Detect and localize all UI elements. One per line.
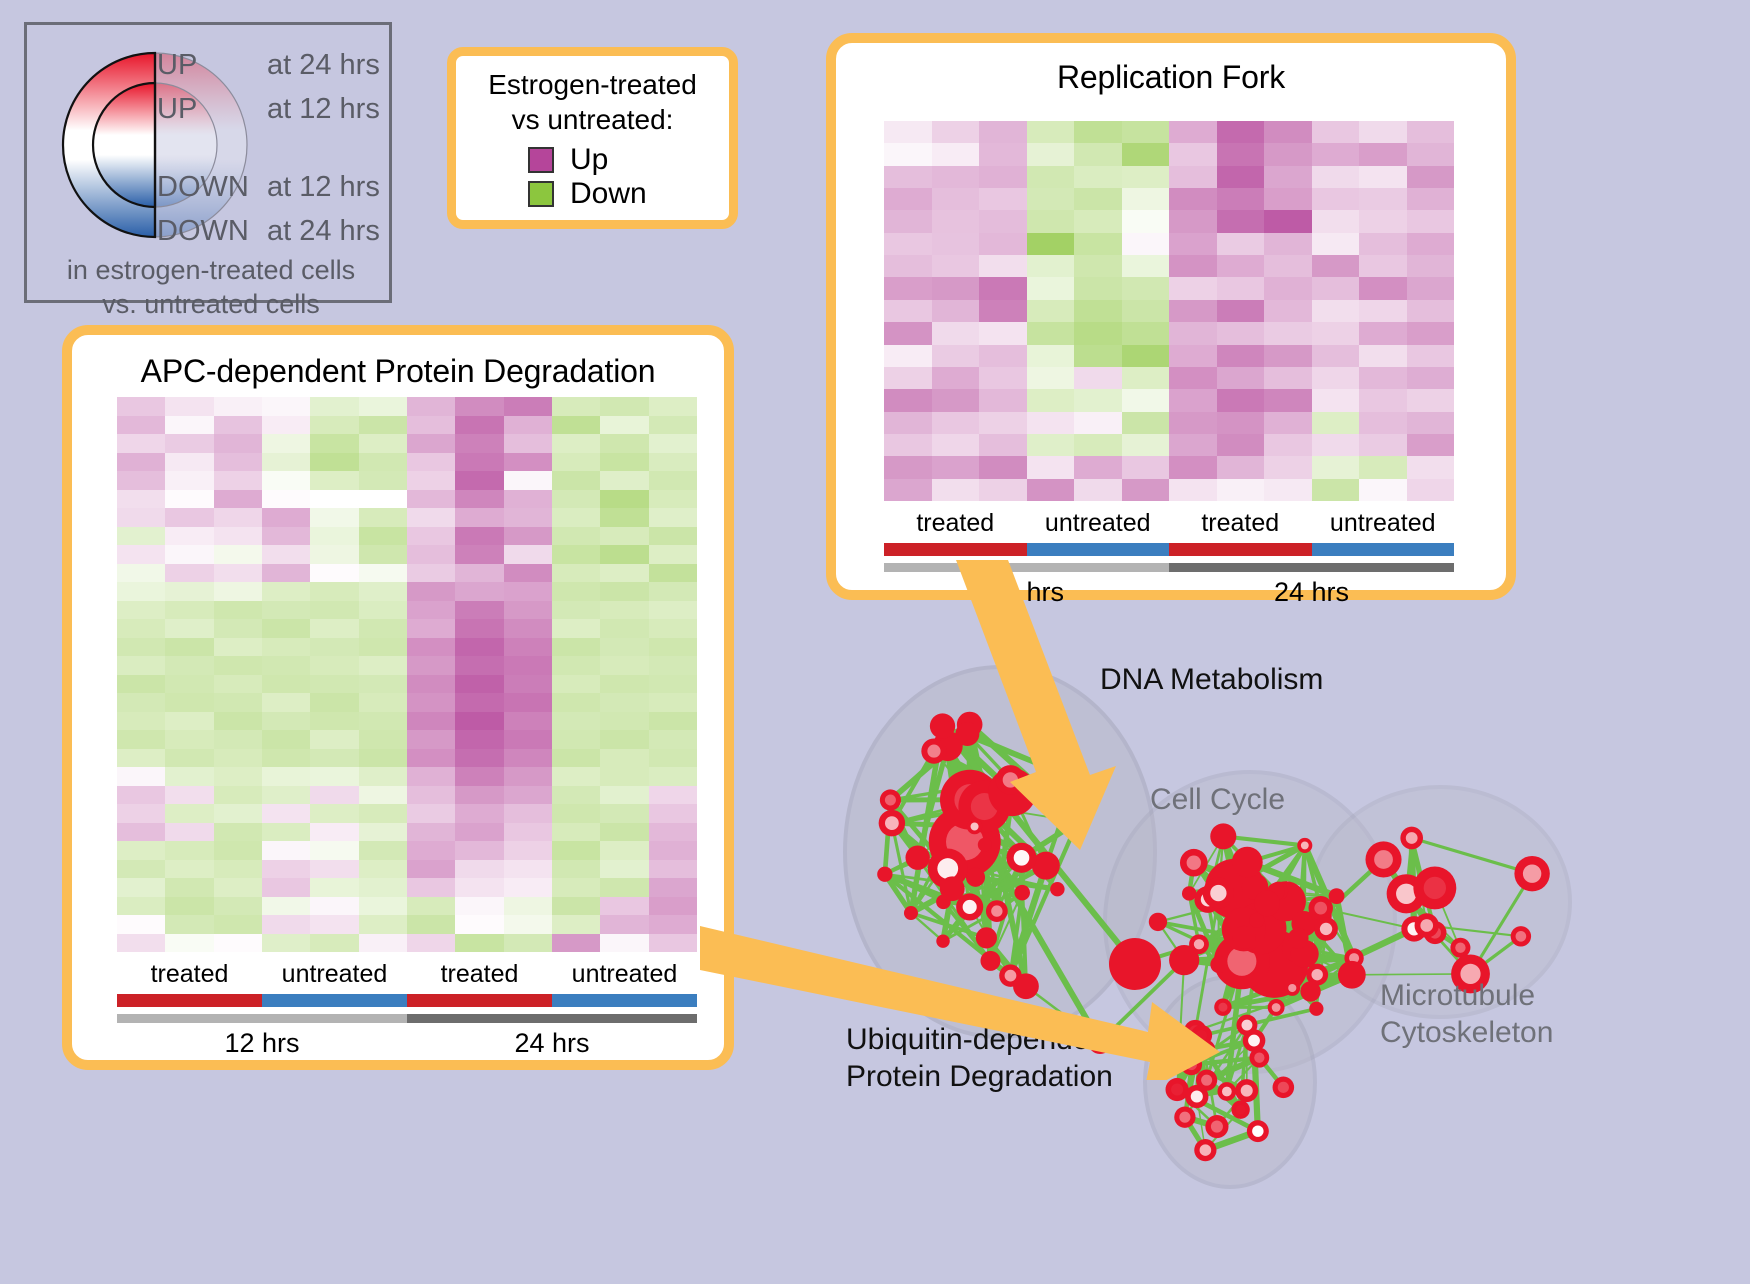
heatmap-cell xyxy=(455,619,503,638)
heatmap-cell xyxy=(1027,389,1075,411)
heatmap-cell xyxy=(407,712,455,731)
heatmap-cell xyxy=(1359,166,1407,188)
heatmap-cell xyxy=(932,277,980,299)
heatmap-cell xyxy=(214,693,262,712)
heatmap-cell xyxy=(455,490,503,509)
heatmap-cell xyxy=(600,564,648,583)
heatmap-cell xyxy=(1359,345,1407,367)
heatmap-cell xyxy=(1122,412,1170,434)
heatmap-cell xyxy=(1264,322,1312,344)
heatmap-cell xyxy=(214,878,262,897)
heatmap-cell xyxy=(552,638,600,657)
heatmap-cell xyxy=(884,188,932,210)
heatmap-cell xyxy=(504,564,552,583)
heatmap-cell xyxy=(310,675,358,694)
cluster-label-microtubule: Microtubule Cytoskeleton xyxy=(1380,978,1553,1051)
heatmap-cell xyxy=(407,823,455,842)
heatmap-cell xyxy=(600,601,648,620)
heatmap-cell xyxy=(165,860,213,879)
key-footer-line-2: vs. untreated cells xyxy=(27,287,395,321)
heatmap-cell xyxy=(165,878,213,897)
time-bar-24hrs xyxy=(407,1014,697,1023)
heatmap-cell xyxy=(455,527,503,546)
heatmap-cell xyxy=(262,527,310,546)
heatmap-cell xyxy=(1359,143,1407,165)
heatmap-cell xyxy=(649,749,697,768)
heatmap-cell xyxy=(407,730,455,749)
heatmap-cell xyxy=(310,582,358,601)
heatmap-cell xyxy=(1217,434,1265,456)
heatmap-cell xyxy=(884,479,932,501)
heatmap-cell xyxy=(214,490,262,509)
heatmap-cell xyxy=(455,508,503,527)
heatmap-cell xyxy=(1359,255,1407,277)
heatmap-cell xyxy=(552,564,600,583)
heatmap-cell xyxy=(884,143,932,165)
heatmap-cell xyxy=(1074,412,1122,434)
heatmap-cell xyxy=(884,255,932,277)
heatmap-cell xyxy=(1217,345,1265,367)
heatmap-cell xyxy=(884,210,932,232)
heatmap-cell xyxy=(552,675,600,694)
heatmap-cell xyxy=(1264,367,1312,389)
heatmap-cell xyxy=(117,823,165,842)
heatmap-cell xyxy=(1312,367,1360,389)
heatmap-cell xyxy=(1122,188,1170,210)
heatmap-cell xyxy=(504,712,552,731)
heatmap-cell xyxy=(1169,277,1217,299)
heatmap-cell xyxy=(407,471,455,490)
heatmap-cell xyxy=(979,434,1027,456)
network-node xyxy=(986,900,1008,922)
heatmap-cell xyxy=(1312,255,1360,277)
heatmap-cell xyxy=(165,823,213,842)
time-bar-12hrs xyxy=(117,1014,407,1023)
heatmap-cell xyxy=(262,860,310,879)
heatmap-cell xyxy=(117,915,165,934)
heatmap-cell xyxy=(1312,121,1360,143)
heatmap-cell xyxy=(1027,143,1075,165)
heatmap-cell xyxy=(1074,367,1122,389)
heatmap-cell xyxy=(455,675,503,694)
heatmap-cell xyxy=(117,508,165,527)
heatmap-cell xyxy=(1122,434,1170,456)
heatmap-cell xyxy=(1122,121,1170,143)
heatmap-cell xyxy=(1264,255,1312,277)
heatmap-cell xyxy=(649,934,697,953)
heatmap-cell xyxy=(407,897,455,916)
heatmap-cell xyxy=(262,453,310,472)
heatmap-cell xyxy=(504,471,552,490)
heatmap-cell xyxy=(359,545,407,564)
network-node xyxy=(1174,1107,1195,1128)
heatmap-cell xyxy=(262,508,310,527)
time-labels-apc: 12 hrs 24 hrs xyxy=(117,1028,697,1059)
heatmap-cell xyxy=(310,749,358,768)
key-row-down-12: DOWN at 12 hrs xyxy=(157,171,397,215)
network-node xyxy=(1338,961,1366,989)
heatmap-cell xyxy=(262,434,310,453)
heatmap-cell xyxy=(1264,389,1312,411)
heatmap-cell xyxy=(649,786,697,805)
heatmap-cell xyxy=(117,860,165,879)
network-node xyxy=(1297,838,1312,853)
legend-item-up: Up xyxy=(528,143,729,177)
network-node xyxy=(1514,856,1549,891)
heatmap-cell xyxy=(1217,143,1265,165)
network-node xyxy=(1235,1079,1258,1102)
heatmap-cell xyxy=(884,345,932,367)
heatmap-cell xyxy=(310,434,358,453)
network-node xyxy=(940,876,965,901)
heatmap-cell xyxy=(1217,121,1265,143)
figure-canvas: UP at 24 hrs UP at 12 hrs DOWN at 12 hrs… xyxy=(0,0,1750,1279)
heatmap-cell xyxy=(117,416,165,435)
heatmap-cell xyxy=(884,389,932,411)
heatmap-cell xyxy=(600,397,648,416)
heatmap-cell xyxy=(884,121,932,143)
network-node xyxy=(879,810,905,836)
heatmap-cell xyxy=(1169,479,1217,501)
heatmap-cell xyxy=(1169,367,1217,389)
heatmap-cell xyxy=(1169,456,1217,478)
heatmap-cell xyxy=(359,897,407,916)
heatmap-cell xyxy=(932,210,980,232)
network-node xyxy=(1231,1100,1249,1118)
heatmap-cell xyxy=(455,915,503,934)
heatmap-cell xyxy=(455,897,503,916)
heatmap-cell xyxy=(359,823,407,842)
heatmap-cell xyxy=(1074,255,1122,277)
heatmap-cell xyxy=(1027,210,1075,232)
heatmap-cell xyxy=(1407,277,1455,299)
network-node xyxy=(880,789,901,810)
heatmap-cell xyxy=(979,367,1027,389)
heatmap-cell xyxy=(1359,300,1407,322)
heatmap-cell xyxy=(1027,412,1075,434)
network-node xyxy=(1273,1077,1295,1099)
heatmap-cell xyxy=(117,841,165,860)
heatmap-cell xyxy=(407,656,455,675)
heatmap-cell xyxy=(214,786,262,805)
heatmap-cell xyxy=(117,749,165,768)
network-node xyxy=(1450,938,1470,958)
heatmap-cell xyxy=(649,471,697,490)
heatmap-cell xyxy=(504,397,552,416)
heatmap-cell xyxy=(1264,479,1312,501)
heatmap-cell xyxy=(552,490,600,509)
bar-treated-12 xyxy=(117,994,262,1007)
down-swatch-icon xyxy=(528,181,554,207)
heatmap-cell xyxy=(649,823,697,842)
heatmap-cell xyxy=(979,479,1027,501)
heatmap-cell xyxy=(1407,412,1455,434)
bar-treated-24 xyxy=(407,994,552,1007)
heatmap-cell xyxy=(1074,143,1122,165)
heatmap-cell xyxy=(1359,233,1407,255)
heatmap-cell xyxy=(359,915,407,934)
network-node xyxy=(1180,849,1208,877)
heatmap-cell xyxy=(932,345,980,367)
heatmap-cell xyxy=(1217,456,1265,478)
heatmap-cell xyxy=(214,638,262,657)
heatmap-cell xyxy=(932,188,980,210)
heatmap-cell xyxy=(600,416,648,435)
heatmap-cell xyxy=(504,675,552,694)
panel-title-replication-fork: Replication Fork xyxy=(836,59,1506,96)
heatmap-cell xyxy=(649,416,697,435)
heatmap-cell xyxy=(1312,479,1360,501)
network-node xyxy=(905,845,929,869)
heatmap-cell xyxy=(1074,389,1122,411)
heatmap-cell xyxy=(600,749,648,768)
heatmap-cell xyxy=(504,934,552,953)
heatmap-cell xyxy=(1312,233,1360,255)
heatmap-cell xyxy=(214,730,262,749)
heatmap-cell xyxy=(504,434,552,453)
heatmap-cell xyxy=(1264,345,1312,367)
heatmap-cell xyxy=(649,915,697,934)
heatmap-cell xyxy=(165,564,213,583)
heatmap-cell xyxy=(214,471,262,490)
heatmap-cell xyxy=(1122,345,1170,367)
heatmap-cell xyxy=(214,453,262,472)
heatmap-cell xyxy=(884,456,932,478)
heatmap-cell xyxy=(504,804,552,823)
legend-title-line-1: Estrogen-treated xyxy=(456,68,729,103)
heatmap-cell xyxy=(165,527,213,546)
heatmap-cell xyxy=(407,841,455,860)
heatmap-cell xyxy=(165,915,213,934)
heatmap-cell xyxy=(455,823,503,842)
heatmap-cell xyxy=(1407,233,1455,255)
heatmap-cell xyxy=(1407,300,1455,322)
heatmap-cell xyxy=(407,934,455,953)
heatmap-cell xyxy=(214,934,262,953)
heatmap-cell xyxy=(117,471,165,490)
heatmap-cell xyxy=(600,656,648,675)
heatmap-cell xyxy=(979,412,1027,434)
heatmap-cell xyxy=(1407,479,1455,501)
heatmap-cell xyxy=(1122,389,1170,411)
heatmap-cell xyxy=(600,527,648,546)
heatmap-cell xyxy=(262,804,310,823)
heatmap-cell xyxy=(1264,456,1312,478)
heatmap-cell xyxy=(165,601,213,620)
group-label: treated xyxy=(407,960,552,994)
heatmap-cell xyxy=(1359,121,1407,143)
heatmap-cell xyxy=(117,804,165,823)
heatmap-cell xyxy=(117,675,165,694)
heatmap-cell xyxy=(407,860,455,879)
heatmap-cell xyxy=(455,471,503,490)
heatmap-cell xyxy=(407,397,455,416)
heatmap-cell xyxy=(504,693,552,712)
heatmap-cell xyxy=(214,527,262,546)
heatmap-cell xyxy=(504,841,552,860)
heatmap-cell xyxy=(1217,479,1265,501)
heatmap-cell xyxy=(455,582,503,601)
heatmap-cell xyxy=(359,453,407,472)
network-node xyxy=(1203,877,1234,908)
heatmap-cell xyxy=(165,934,213,953)
heatmap-cell xyxy=(600,638,648,657)
heatmap-cell xyxy=(649,712,697,731)
heatmap-cell xyxy=(1169,322,1217,344)
heatmap-cell xyxy=(884,277,932,299)
heatmap-cell xyxy=(117,619,165,638)
heatmap-cell xyxy=(600,471,648,490)
heatmap-cell xyxy=(552,582,600,601)
heatmap-cell xyxy=(262,416,310,435)
key-time: at 24 hrs xyxy=(267,215,380,248)
network-node xyxy=(1194,1139,1216,1161)
heatmap-cell xyxy=(932,121,980,143)
group-label: untreated xyxy=(1027,509,1170,543)
heatmap-cell xyxy=(1359,188,1407,210)
group-label: treated xyxy=(884,509,1027,543)
group-label: untreated xyxy=(552,960,697,994)
heatmap-cell xyxy=(1074,456,1122,478)
heatmap-cell xyxy=(214,767,262,786)
heatmap-cell xyxy=(552,860,600,879)
heatmap-cell xyxy=(884,412,932,434)
heatmap-cell xyxy=(1312,188,1360,210)
heatmap-cell xyxy=(455,786,503,805)
heatmap-cell xyxy=(552,841,600,860)
heatmap-cell xyxy=(552,712,600,731)
heatmap-cell xyxy=(1027,434,1075,456)
heatmap-cell xyxy=(310,508,358,527)
heatmap-cell xyxy=(214,508,262,527)
heatmap-cell xyxy=(1264,277,1312,299)
heatmap-cell xyxy=(1407,210,1455,232)
heatmap-cell xyxy=(1359,434,1407,456)
heatmap-cell xyxy=(455,545,503,564)
axis-apc: treated untreated treated untreated 12 h… xyxy=(117,960,697,1059)
key-direction: UP xyxy=(157,93,267,126)
heatmap-cell xyxy=(117,545,165,564)
network-node xyxy=(966,868,985,887)
heatmap-cell xyxy=(1264,166,1312,188)
heatmap-cell xyxy=(649,434,697,453)
heatmap-cell xyxy=(1217,277,1265,299)
heatmap-cell xyxy=(214,915,262,934)
heatmap-cell xyxy=(117,582,165,601)
network-node xyxy=(1284,980,1300,996)
key-time: at 24 hrs xyxy=(267,49,380,82)
heatmap-cell xyxy=(649,730,697,749)
heatmap-cell xyxy=(649,508,697,527)
heatmap-cell xyxy=(359,841,407,860)
heatmap-cell xyxy=(310,786,358,805)
heatmap-cell xyxy=(932,300,980,322)
heatmap-cell xyxy=(1074,345,1122,367)
heatmap-cell xyxy=(504,860,552,879)
heatmap-cell xyxy=(455,434,503,453)
heatmap-cell xyxy=(359,508,407,527)
heatmap-cell xyxy=(407,693,455,712)
heatmap-cell xyxy=(1169,300,1217,322)
network-node xyxy=(1205,1115,1228,1138)
network-node xyxy=(1511,926,1531,946)
heatmap-cell xyxy=(649,675,697,694)
heatmap-cell xyxy=(649,397,697,416)
key-time: at 12 hrs xyxy=(267,93,380,126)
heatmap-cell xyxy=(117,490,165,509)
heatmap-cell xyxy=(504,619,552,638)
heatmap-cell xyxy=(600,878,648,897)
heatmap-cell xyxy=(552,767,600,786)
heatmap-cell xyxy=(552,823,600,842)
heatmap-cell xyxy=(1312,456,1360,478)
heatmap-cell xyxy=(1122,166,1170,188)
network-node xyxy=(1415,913,1439,937)
heatmap-cell xyxy=(552,545,600,564)
time-label-12: 12 hrs xyxy=(117,1028,407,1059)
heatmap-cell xyxy=(407,915,455,934)
heatmap-cell xyxy=(1217,233,1265,255)
heatmap-cell xyxy=(359,638,407,657)
heatmap-cell xyxy=(504,508,552,527)
heatmap-cell xyxy=(552,786,600,805)
heatmap-cell xyxy=(979,322,1027,344)
heatmap-cell xyxy=(932,389,980,411)
network-node xyxy=(1050,882,1064,896)
heatmap-cell xyxy=(979,389,1027,411)
heatmap-cell xyxy=(932,456,980,478)
heatmap-cell xyxy=(1169,188,1217,210)
heatmap-cell xyxy=(359,564,407,583)
heatmap-cell xyxy=(504,823,552,842)
heatmap-cell xyxy=(1027,188,1075,210)
heatmap-cell xyxy=(552,397,600,416)
heatmap-cell xyxy=(455,934,503,953)
heatmap-cell xyxy=(600,786,648,805)
heatmap-cell xyxy=(504,897,552,916)
heatmap-cell xyxy=(932,166,980,188)
heatmap-cell xyxy=(407,804,455,823)
heatmap-cell xyxy=(455,453,503,472)
heatmap-cell xyxy=(262,490,310,509)
heatmap-cell xyxy=(214,897,262,916)
heatmap-cell xyxy=(1122,456,1170,478)
group-label: untreated xyxy=(262,960,407,994)
heatmap-cell xyxy=(1359,210,1407,232)
heatmap-cell xyxy=(504,915,552,934)
heatmap-cell xyxy=(649,527,697,546)
heatmap-cell xyxy=(1074,210,1122,232)
heatmap-cell xyxy=(1027,255,1075,277)
heatmap-cell xyxy=(455,712,503,731)
key-footer-line-1: in estrogen-treated cells xyxy=(27,253,395,287)
heatmap-cell xyxy=(165,749,213,768)
heatmap-cell xyxy=(407,416,455,435)
time-bar-24hrs xyxy=(1169,563,1454,572)
network-node xyxy=(1400,827,1423,850)
heatmap-cell xyxy=(214,545,262,564)
heatmap-cell xyxy=(932,367,980,389)
color-key-box: UP at 24 hrs UP at 12 hrs DOWN at 12 hrs… xyxy=(24,22,392,303)
heatmap-cell xyxy=(1074,479,1122,501)
heatmap-cell xyxy=(884,233,932,255)
heatmap-cell xyxy=(262,545,310,564)
bar-treated-12 xyxy=(884,543,1027,556)
heatmap-cell xyxy=(359,878,407,897)
heatmap-cell xyxy=(504,786,552,805)
heatmap-cell xyxy=(359,397,407,416)
heatmap-cell xyxy=(552,656,600,675)
